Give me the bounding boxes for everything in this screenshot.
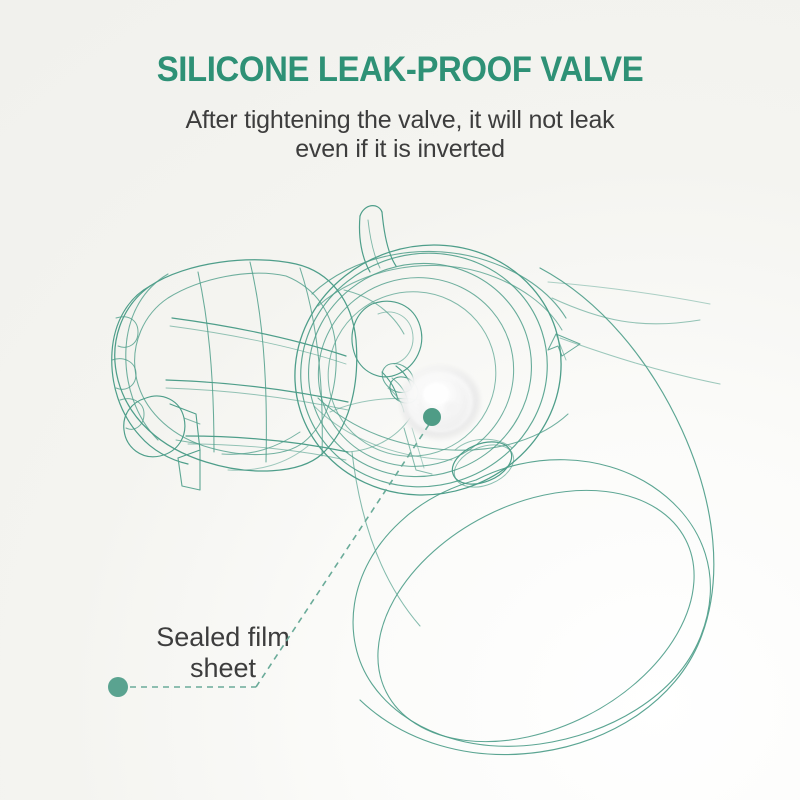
header: SILICONE LEAK-PROOF VALVE After tighteni… bbox=[0, 0, 800, 164]
subtitle-line-2: even if it is inverted bbox=[0, 135, 800, 164]
infographic-page: SILICONE LEAK-PROOF VALVE After tighteni… bbox=[0, 0, 800, 800]
page-subtitle: After tightening the valve, it will not … bbox=[0, 90, 800, 164]
subtitle-line-1: After tightening the valve, it will not … bbox=[0, 106, 800, 135]
lid-rings bbox=[262, 211, 720, 530]
strainer-cone bbox=[112, 260, 410, 490]
page-title: SILICONE LEAK-PROOF VALVE bbox=[24, 0, 776, 90]
spout-tab bbox=[359, 206, 396, 272]
silicone-valve-disc bbox=[400, 365, 480, 439]
bottle-body bbox=[352, 268, 714, 755]
